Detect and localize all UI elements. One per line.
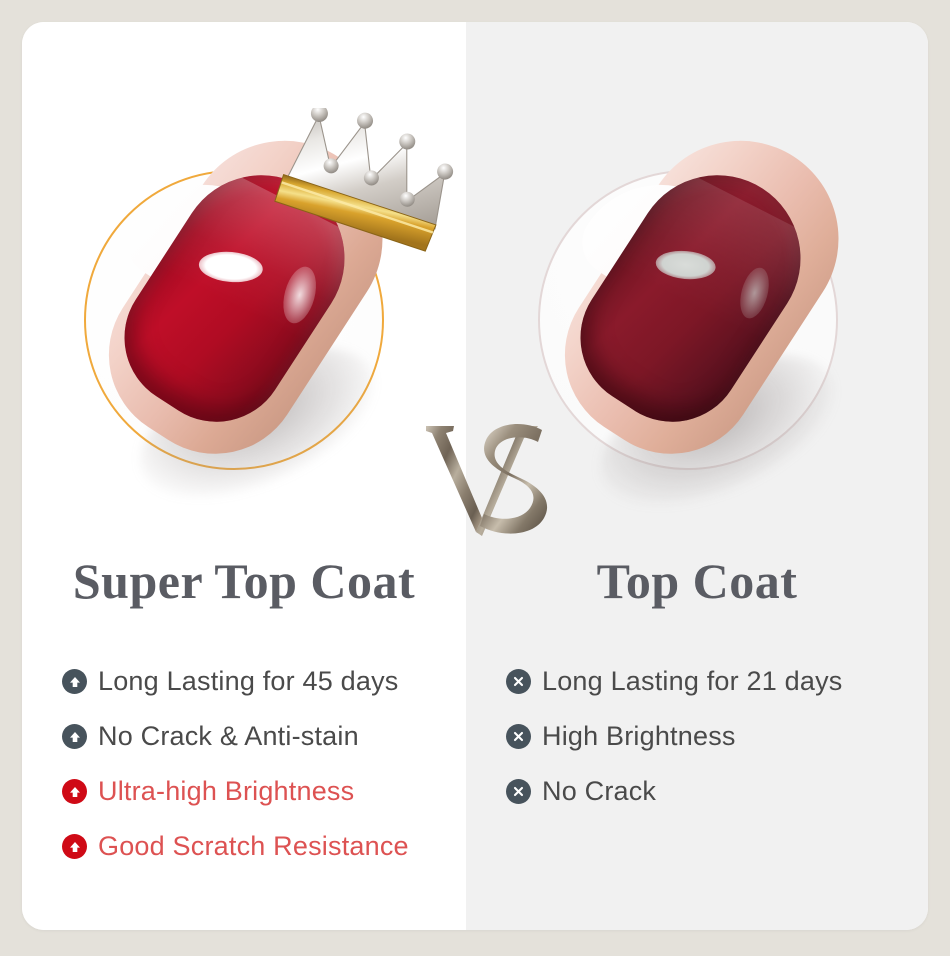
feature-list-left: Long Lasting for 45 days No Crack & Anti… bbox=[62, 654, 409, 874]
feature-label: No Crack & Anti-stain bbox=[98, 721, 359, 752]
list-item: Long Lasting for 45 days bbox=[62, 654, 409, 709]
list-item: Good Scratch Resistance bbox=[62, 819, 409, 874]
feature-label: Ultra-high Brightness bbox=[98, 776, 354, 807]
x-circle-icon bbox=[506, 724, 531, 749]
x-circle-icon bbox=[506, 669, 531, 694]
feature-list-right: Long Lasting for 21 days High Brightness… bbox=[506, 654, 843, 819]
x-circle-icon bbox=[506, 779, 531, 804]
feature-label: High Brightness bbox=[542, 721, 736, 752]
list-item: Long Lasting for 21 days bbox=[506, 654, 843, 709]
crown-icon bbox=[268, 108, 466, 268]
page-title-left: Super Top Coat bbox=[22, 552, 466, 610]
feature-label: Good Scratch Resistance bbox=[98, 831, 409, 862]
list-item: Ultra-high Brightness bbox=[62, 764, 409, 819]
feature-label: Long Lasting for 21 days bbox=[542, 666, 843, 697]
list-item: High Brightness bbox=[506, 709, 843, 764]
list-item: No Crack bbox=[506, 764, 843, 819]
arrow-up-circle-icon bbox=[62, 834, 87, 859]
list-item: No Crack & Anti-stain bbox=[62, 709, 409, 764]
comparison-panel-left: Super Top Coat Long Lasting for 45 days … bbox=[22, 22, 466, 930]
product-image-left bbox=[22, 22, 466, 522]
page-title-right: Top Coat bbox=[466, 552, 928, 610]
arrow-up-circle-icon bbox=[62, 779, 87, 804]
arrow-up-circle-icon bbox=[62, 724, 87, 749]
feature-label: No Crack bbox=[542, 776, 656, 807]
versus-badge bbox=[420, 414, 560, 544]
comparison-card: Super Top Coat Long Lasting for 45 days … bbox=[22, 22, 928, 930]
arrow-up-circle-icon bbox=[62, 669, 87, 694]
feature-label: Long Lasting for 45 days bbox=[98, 666, 399, 697]
